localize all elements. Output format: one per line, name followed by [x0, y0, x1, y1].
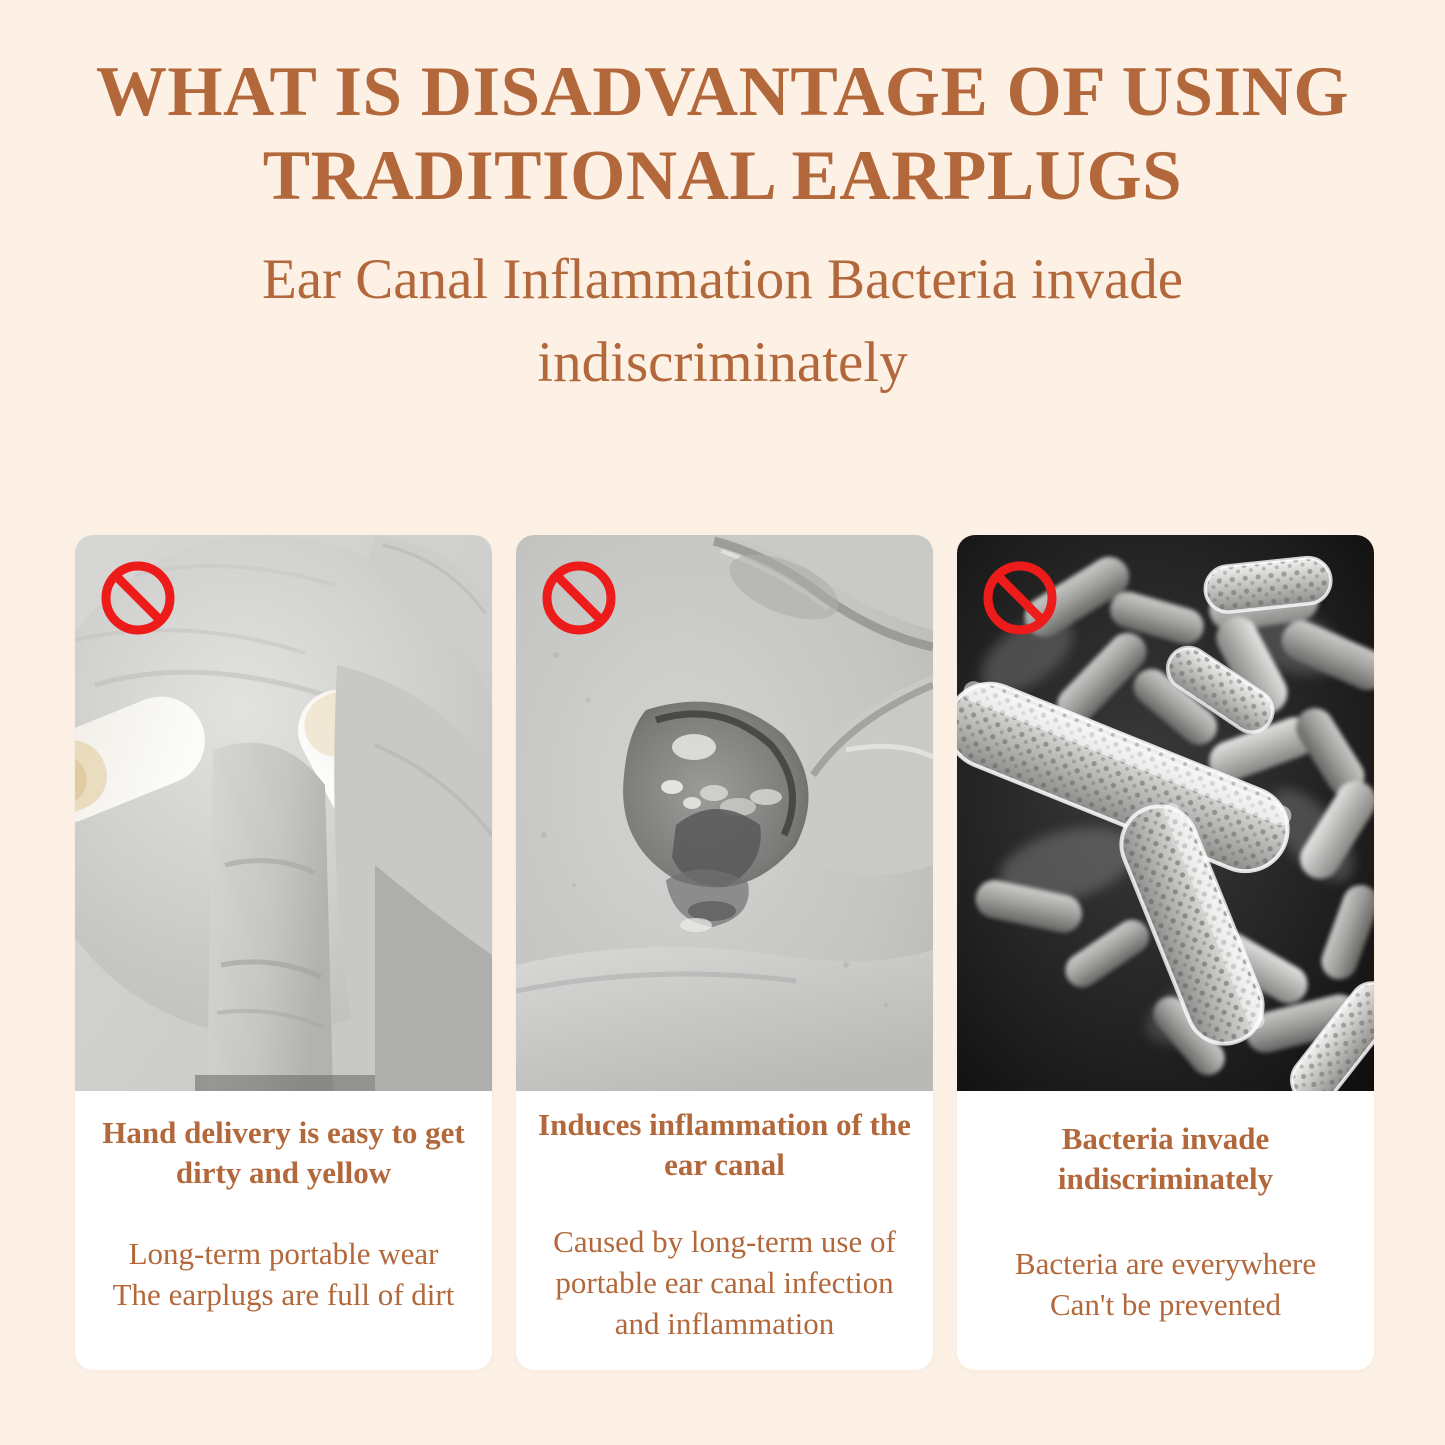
- disadvantage-card: Bacteria invade indiscriminately Bacteri…: [957, 535, 1374, 1370]
- card-heading: Hand delivery is easy to get dirty and y…: [89, 1113, 478, 1193]
- card-body: Hand delivery is easy to get dirty and y…: [75, 1091, 492, 1370]
- page-header: WHAT IS DISADVANTAGE OF USING TRADITIONA…: [0, 0, 1445, 404]
- card-description: Long-term portable wear The earplugs are…: [89, 1233, 478, 1315]
- page-title: WHAT IS DISADVANTAGE OF USING TRADITIONA…: [0, 50, 1445, 218]
- prohibition-icon: [97, 557, 179, 639]
- card-heading: Bacteria invade indiscriminately: [971, 1119, 1360, 1199]
- card-photo: [516, 535, 933, 1091]
- disadvantage-card: Induces inflammation of the ear canal Ca…: [516, 535, 933, 1370]
- card-photo: [957, 535, 1374, 1091]
- disadvantage-card: Hand delivery is easy to get dirty and y…: [75, 535, 492, 1370]
- page-subtitle: Ear Canal Inflammation Bacteria invade i…: [0, 238, 1445, 404]
- card-body: Induces inflammation of the ear canal Ca…: [516, 1091, 933, 1370]
- card-description: Bacteria are everywhere Can't be prevent…: [971, 1243, 1360, 1325]
- card-description: Caused by long-term use of portable ear …: [530, 1221, 919, 1344]
- card-heading: Induces inflammation of the ear canal: [530, 1105, 919, 1185]
- disadvantage-card-list: Hand delivery is easy to get dirty and y…: [75, 535, 1375, 1370]
- card-body: Bacteria invade indiscriminately Bacteri…: [957, 1091, 1374, 1370]
- prohibition-icon: [538, 557, 620, 639]
- card-photo: [75, 535, 492, 1091]
- prohibition-icon: [979, 557, 1061, 639]
